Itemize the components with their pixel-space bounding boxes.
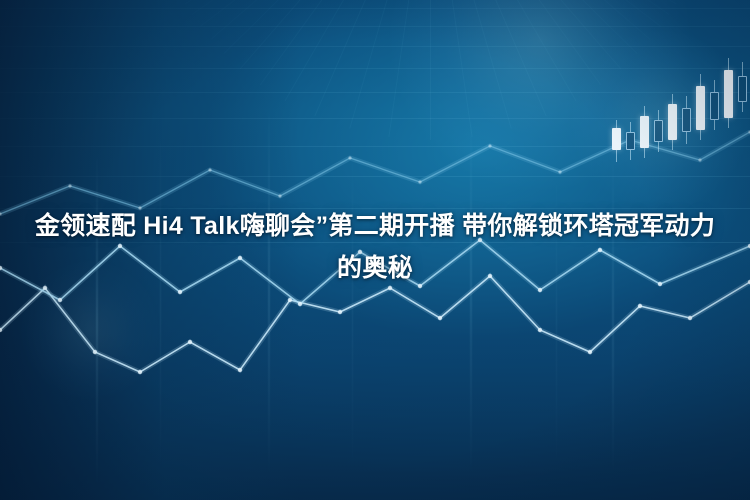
page-title: 金领速配 Hi4 Talk嗨聊会”第二期开播 带你解锁环塔冠军动力的奥秘: [30, 205, 720, 289]
banner-image: 金领速配 Hi4 Talk嗨聊会”第二期开播 带你解锁环塔冠军动力的奥秘: [0, 0, 750, 500]
